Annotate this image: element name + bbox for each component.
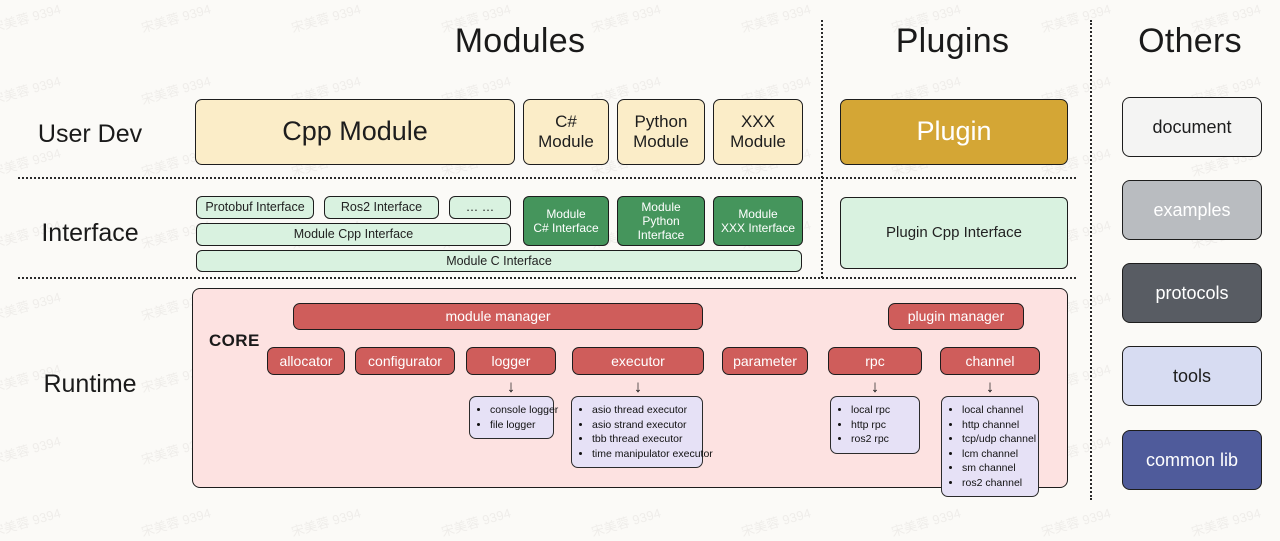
executor-detail-list: asio thread executorasio strand executor… (571, 396, 703, 468)
column-title-others: Others (1105, 22, 1275, 61)
cpp-module-label: Cpp Module (282, 116, 428, 148)
protobuf-interface-box[interactable]: Protobuf Interface (196, 196, 314, 219)
parameter-box[interactable]: parameter (722, 347, 808, 375)
more-interface-label: … … (466, 200, 494, 215)
watermark-text: 宋美蓉 9394 (1189, 503, 1263, 541)
others-protocols-box[interactable]: protocols (1122, 263, 1262, 323)
divider-userdev-interface (18, 177, 1076, 179)
watermark-text: 宋美蓉 9394 (289, 0, 363, 36)
channel-arrow-icon: ↓ (940, 378, 1040, 395)
channel-detail-items: local channelhttp channeltcp/udp channel… (948, 403, 1030, 490)
executor-label: executor (611, 353, 665, 370)
cpp-module-box[interactable]: Cpp Module (195, 99, 515, 165)
detail-item: time manipulator executor (592, 447, 694, 462)
ros2-interface-box[interactable]: Ros2 Interface (324, 196, 439, 219)
others-examples-box[interactable]: examples (1122, 180, 1262, 240)
detail-item: asio thread executor (592, 403, 694, 418)
module-c-interface-label: Module C Interface (446, 254, 552, 269)
detail-item: asio strand executor (592, 418, 694, 433)
module-xxx-interface-box[interactable]: ModuleXXX Interface (713, 196, 803, 246)
rpc-arrow-icon: ↓ (828, 378, 922, 395)
logger-detail-items: console loggerfile logger (476, 403, 545, 432)
row-label-runtime: Runtime (0, 370, 180, 399)
logger-box[interactable]: logger (466, 347, 556, 375)
xxx-module-box[interactable]: XXXModule (713, 99, 803, 165)
xxx-module-label: XXXModule (730, 112, 786, 152)
watermark-text: 宋美蓉 9394 (1039, 503, 1113, 541)
rpc-detail-list: local rpchttp rpcros2 rpc (830, 396, 920, 454)
watermark-text: 宋美蓉 9394 (0, 0, 63, 36)
ros2-interface-label: Ros2 Interface (341, 200, 422, 215)
executor-detail-items: asio thread executorasio strand executor… (578, 403, 694, 461)
others-examples-label: examples (1153, 200, 1230, 221)
column-title-plugins: Plugins (845, 22, 1060, 61)
rpc-detail-items: local rpchttp rpcros2 rpc (837, 403, 911, 447)
others-document-label: document (1152, 117, 1231, 138)
logger-label: logger (492, 353, 531, 370)
module-cpp-interface-box[interactable]: Module Cpp Interface (196, 223, 511, 246)
parameter-label: parameter (733, 353, 797, 370)
configurator-box[interactable]: configurator (355, 347, 455, 375)
executor-arrow-icon: ↓ (572, 378, 704, 395)
protobuf-interface-label: Protobuf Interface (205, 200, 304, 215)
channel-box[interactable]: channel (940, 347, 1040, 375)
logger-detail-list: console loggerfile logger (469, 396, 554, 439)
watermark-text: 宋美蓉 9394 (889, 503, 963, 541)
detail-item: file logger (490, 418, 545, 433)
others-document-box[interactable]: document (1122, 97, 1262, 157)
python-module-label: PythonModule (633, 112, 689, 152)
allocator-box[interactable]: allocator (267, 347, 345, 375)
plugin-label: Plugin (916, 116, 991, 148)
others-common-lib-label: common lib (1146, 450, 1238, 471)
channel-detail-list: local channelhttp channeltcp/udp channel… (941, 396, 1039, 497)
more-interface-box[interactable]: … … (449, 196, 511, 219)
module-cpp-interface-label: Module Cpp Interface (294, 227, 414, 242)
plugin-cpp-interface-label: Plugin Cpp Interface (886, 224, 1022, 242)
others-tools-box[interactable]: tools (1122, 346, 1262, 406)
executor-box[interactable]: executor (572, 347, 704, 375)
module-xxx-interface-label: ModuleXXX Interface (721, 207, 795, 235)
detail-item: local channel (962, 403, 1030, 418)
watermark-text: 宋美蓉 9394 (289, 503, 363, 541)
watermark-text: 宋美蓉 9394 (0, 287, 63, 325)
watermark-text: 宋美蓉 9394 (139, 0, 213, 36)
module-manager-label: module manager (445, 308, 550, 325)
detail-item: ros2 rpc (851, 432, 911, 447)
allocator-label: allocator (280, 353, 333, 370)
csharp-module-label: C#Module (538, 112, 594, 152)
row-label-interface: Interface (0, 219, 180, 248)
detail-item: http channel (962, 418, 1030, 433)
detail-item: tbb thread executor (592, 432, 694, 447)
detail-item: sm channel (962, 461, 1030, 476)
detail-item: local rpc (851, 403, 911, 418)
plugin-manager-box[interactable]: plugin manager (888, 303, 1024, 330)
watermark-text: 宋美蓉 9394 (439, 503, 513, 541)
plugin-cpp-interface-box[interactable]: Plugin Cpp Interface (840, 197, 1068, 269)
module-python-interface-box[interactable]: ModulePython Interface (617, 196, 705, 246)
others-common-lib-box[interactable]: common lib (1122, 430, 1262, 490)
rpc-label: rpc (865, 353, 884, 370)
logger-arrow-icon: ↓ (466, 378, 556, 395)
others-protocols-label: protocols (1155, 283, 1228, 304)
watermark-text: 宋美蓉 9394 (739, 0, 813, 36)
detail-item: ros2 channel (962, 476, 1030, 491)
rpc-box[interactable]: rpc (828, 347, 922, 375)
plugin-manager-label: plugin manager (908, 308, 1005, 325)
diagram-canvas: 宋美蓉 9394宋美蓉 9394宋美蓉 9394宋美蓉 9394宋美蓉 9394… (0, 0, 1280, 519)
python-module-box[interactable]: PythonModule (617, 99, 705, 165)
column-title-modules: Modules (360, 22, 680, 61)
module-csharp-interface-label: ModuleC# Interface (533, 207, 598, 235)
csharp-module-box[interactable]: C#Module (523, 99, 609, 165)
detail-item: http rpc (851, 418, 911, 433)
watermark-text: 宋美蓉 9394 (589, 503, 663, 541)
module-python-interface-label: ModulePython Interface (618, 200, 704, 242)
detail-item: lcm channel (962, 447, 1030, 462)
detail-item: tcp/udp channel (962, 432, 1030, 447)
watermark-text: 宋美蓉 9394 (0, 431, 63, 469)
divider-modules-plugins (821, 20, 823, 278)
module-csharp-interface-box[interactable]: ModuleC# Interface (523, 196, 609, 246)
plugin-box[interactable]: Plugin (840, 99, 1068, 165)
module-manager-box[interactable]: module manager (293, 303, 703, 330)
core-label: CORE (209, 331, 260, 351)
divider-interface-runtime (18, 277, 1076, 279)
row-label-user-dev: User Dev (0, 120, 180, 149)
module-c-interface-box[interactable]: Module C Interface (196, 250, 802, 272)
watermark-text: 宋美蓉 9394 (739, 503, 813, 541)
detail-item: console logger (490, 403, 545, 418)
watermark-text: 宋美蓉 9394 (0, 71, 63, 109)
configurator-label: configurator (368, 353, 442, 370)
channel-label: channel (965, 353, 1014, 370)
others-tools-label: tools (1173, 366, 1211, 387)
watermark-text: 宋美蓉 9394 (139, 503, 213, 541)
watermark-text: 宋美蓉 9394 (0, 503, 63, 541)
divider-plugins-others (1090, 20, 1092, 500)
